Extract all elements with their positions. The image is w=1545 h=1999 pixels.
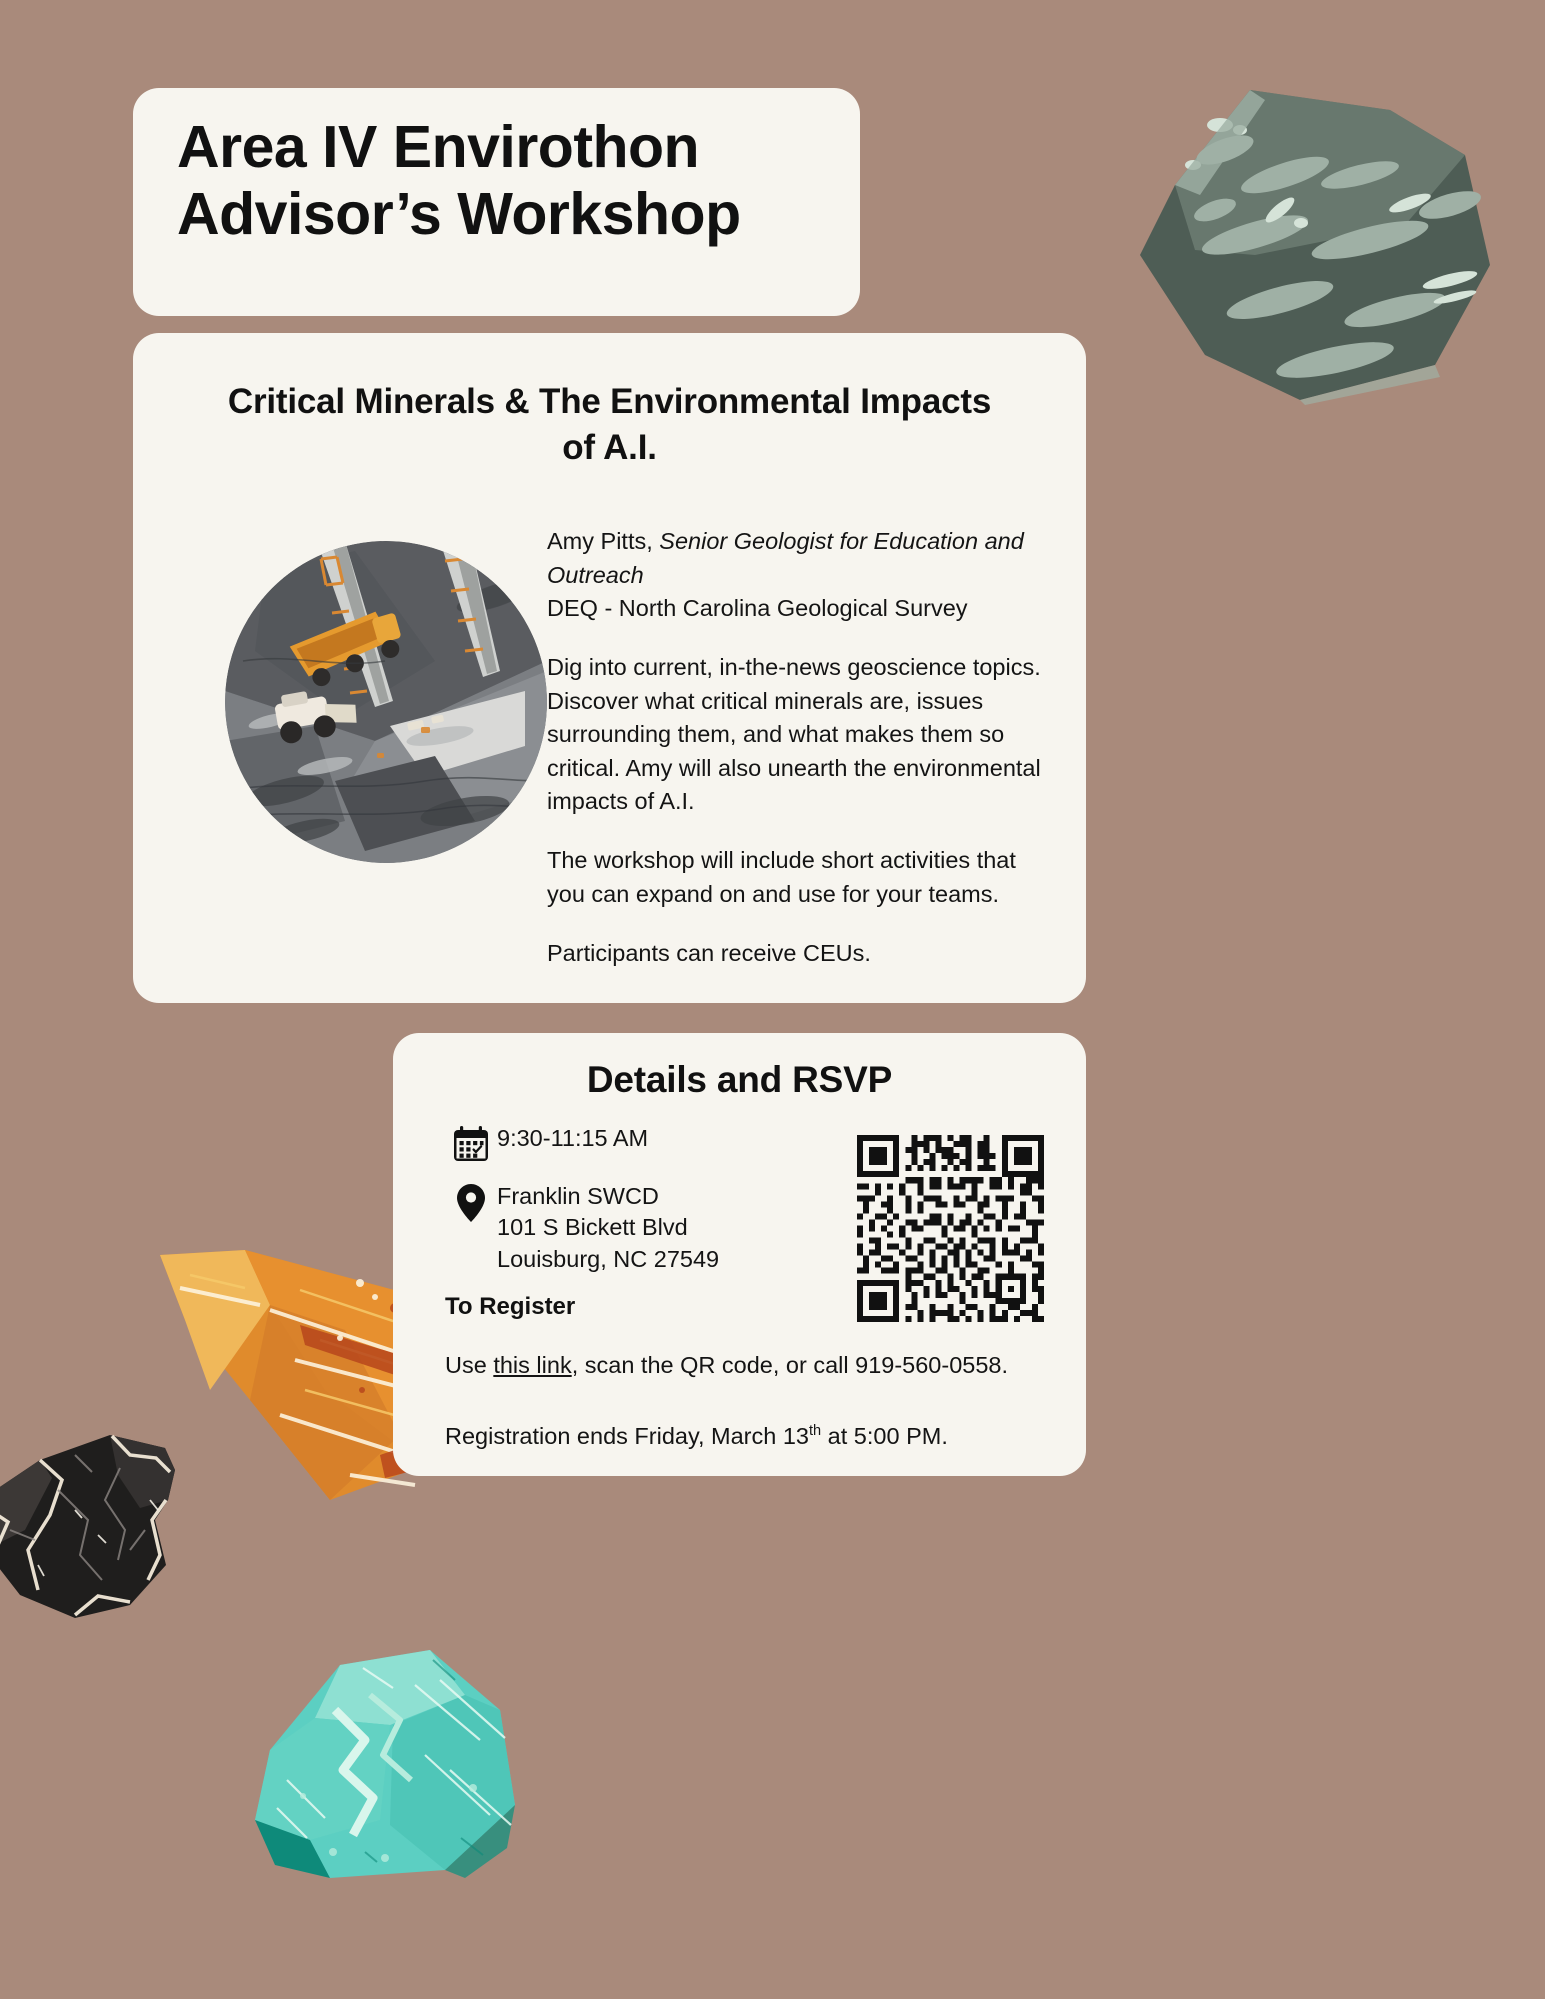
time-row: 9:30-11:15 AM [445, 1123, 851, 1163]
qr-column [851, 1123, 1056, 1328]
location-pin-icon [445, 1181, 497, 1223]
description-paragraph-3: Participants can receive CEUs. [547, 937, 1042, 970]
poster-title-line-2: Advisor’s Workshop [177, 181, 816, 248]
location-row: Franklin SWCD 101 S Bickett Blvd Louisbu… [445, 1181, 851, 1275]
description-paragraph-1: Dig into current, in-the-news geoscience… [547, 651, 1042, 818]
title-card: Area IV Envirothon Advisor’s Workshop [133, 88, 860, 316]
deadline-ordinal-suffix: th [809, 1423, 821, 1439]
black-coal-rock [0, 1400, 290, 1640]
instructions-suffix: , scan the QR code, or call 919-560-0558… [572, 1352, 1008, 1378]
workshop-location: Franklin SWCD 101 S Bickett Blvd Louisbu… [497, 1181, 719, 1275]
main-body: Amy Pitts, Senior Geologist for Educatio… [177, 505, 1042, 970]
poster-title-line-1: Area IV Envirothon [177, 114, 816, 181]
to-register-label: To Register [445, 1293, 851, 1321]
workshop-time: 9:30-11:15 AM [497, 1123, 648, 1154]
green-schist-rock [1105, 55, 1495, 405]
workshop-subtitle: Critical Minerals & The Environmental Im… [207, 379, 1012, 471]
poster-canvas: Area IV Envirothon Advisor’s Workshop Cr… [0, 0, 1545, 1999]
mine-site-photo [225, 541, 547, 863]
details-rsvp-card: Details and RSVP [393, 1033, 1086, 1476]
speaker-block: Amy Pitts, Senior Geologist for Educatio… [547, 525, 1042, 625]
description-paragraph-2: The workshop will include short activiti… [547, 844, 1042, 911]
registration-qr-code[interactable] [851, 1129, 1050, 1328]
details-rsvp-heading: Details and RSVP [423, 1059, 1056, 1101]
photo-column [177, 505, 547, 970]
instructions-prefix: Use [445, 1352, 493, 1378]
deadline-prefix: Registration ends Friday, March 13 [445, 1423, 809, 1449]
rsvp-body: 9:30-11:15 AM Franklin SWCD 101 S Bicket… [423, 1123, 1056, 1328]
teal-crystal-rock [215, 1590, 525, 1880]
registration-link[interactable]: this link [493, 1352, 571, 1378]
rsvp-footer: Use this link, scan the QR code, or call… [445, 1349, 1046, 1453]
speaker-organization: DEQ - North Carolina Geological Survey [547, 595, 968, 621]
registration-instructions: Use this link, scan the QR code, or call… [445, 1349, 1046, 1382]
speaker-name: Amy Pitts, [547, 528, 659, 554]
registration-deadline: Registration ends Friday, March 13th at … [445, 1420, 1046, 1453]
description-column: Amy Pitts, Senior Geologist for Educatio… [547, 505, 1042, 970]
deadline-suffix: at 5:00 PM. [821, 1423, 948, 1449]
rsvp-details-column: 9:30-11:15 AM Franklin SWCD 101 S Bicket… [423, 1123, 851, 1328]
workshop-subtitle-line-1: Critical Minerals & The Environmental [228, 382, 851, 421]
main-content-card: Critical Minerals & The Environmental Im… [133, 333, 1086, 1003]
calendar-icon [445, 1123, 497, 1163]
